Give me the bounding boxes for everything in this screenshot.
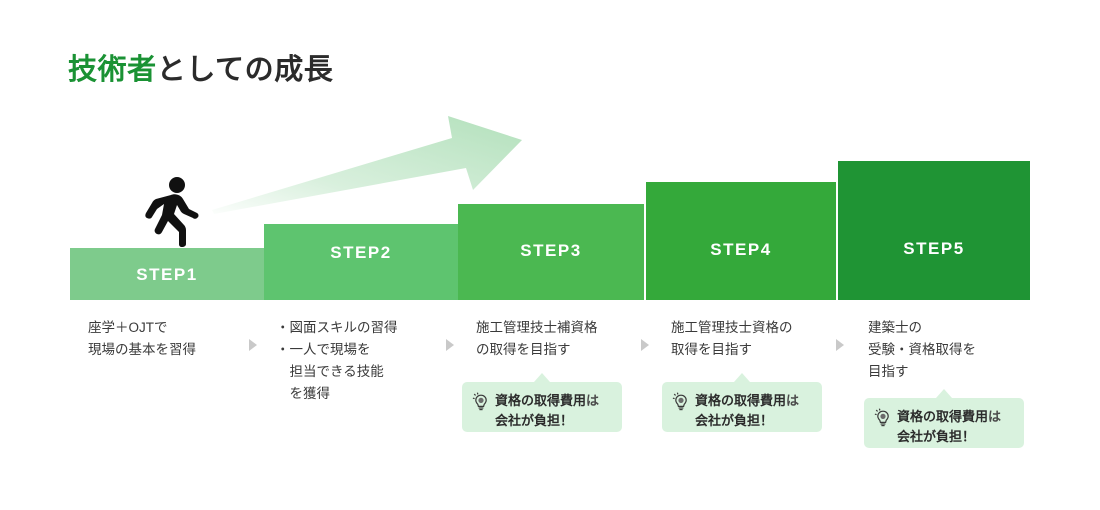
triangle-right-icon-1 — [249, 339, 257, 351]
lightbulb-icon — [672, 392, 690, 412]
triangle-right-icon-4 — [836, 339, 844, 351]
lightbulb-icon — [472, 392, 490, 412]
callout-text-5: 資格の取得費用は会社が負担！ — [897, 407, 1001, 447]
step-label-1: STEP1 — [136, 265, 198, 285]
callout-line2-5: 会社が負担！ — [897, 429, 975, 444]
callout-line1-bold-3: 資格の取得費用 — [495, 393, 586, 408]
step-caption-4: 施工管理技士資格の 取得を目指す — [671, 317, 846, 361]
step-label-5: STEP5 — [903, 239, 965, 259]
step-label-4: STEP4 — [710, 240, 772, 260]
callout-line1-bold-5: 資格の取得費用 — [897, 409, 988, 424]
callout-step-5: 資格の取得費用は会社が負担！ — [864, 398, 1024, 448]
step-label-3: STEP3 — [520, 241, 582, 261]
callout-line1-bold-4: 資格の取得費用 — [695, 393, 786, 408]
step-caption-5: 建築士の 受験・資格取得を 目指す — [868, 317, 1043, 383]
triangle-right-icon-3 — [641, 339, 649, 351]
callout-line1-tail-4: は — [786, 393, 799, 408]
callout-line2-4: 会社が負担！ — [695, 413, 773, 428]
step-caption-2: ・図面スキルの習得 ・一人で現場を 担当できる技能 を獲得 — [276, 317, 451, 404]
callout-text-3: 資格の取得費用は会社が負担！ — [495, 391, 599, 431]
lightbulb-icon — [874, 408, 892, 428]
callout-line1-tail-5: は — [988, 409, 1001, 424]
growth-chart-infographic: 技術者としての成長 STEP1 STEP2 STEP3 — [0, 0, 1100, 510]
step-caption-3: 施工管理技士補資格 の取得を目指す — [476, 317, 651, 361]
callout-step-3: 資格の取得費用は会社が負担！ — [462, 382, 622, 432]
step-label-2: STEP2 — [330, 243, 392, 263]
triangle-right-icon-2 — [446, 339, 454, 351]
callout-step-4: 資格の取得費用は会社が負担！ — [662, 382, 822, 432]
step-block-3: STEP3 — [458, 204, 644, 300]
step-block-2: STEP2 — [264, 224, 458, 300]
step-block-5: STEP5 — [838, 161, 1030, 300]
step-block-4: STEP4 — [646, 182, 836, 300]
callout-line2-3: 会社が負担！ — [495, 413, 573, 428]
step-block-1: STEP1 — [70, 248, 264, 300]
step-caption-1: 座学＋OJTで 現場の基本を習得 — [88, 317, 263, 361]
callout-line1-tail-3: は — [586, 393, 599, 408]
callout-text-4: 資格の取得費用は会社が負担！ — [695, 391, 799, 431]
